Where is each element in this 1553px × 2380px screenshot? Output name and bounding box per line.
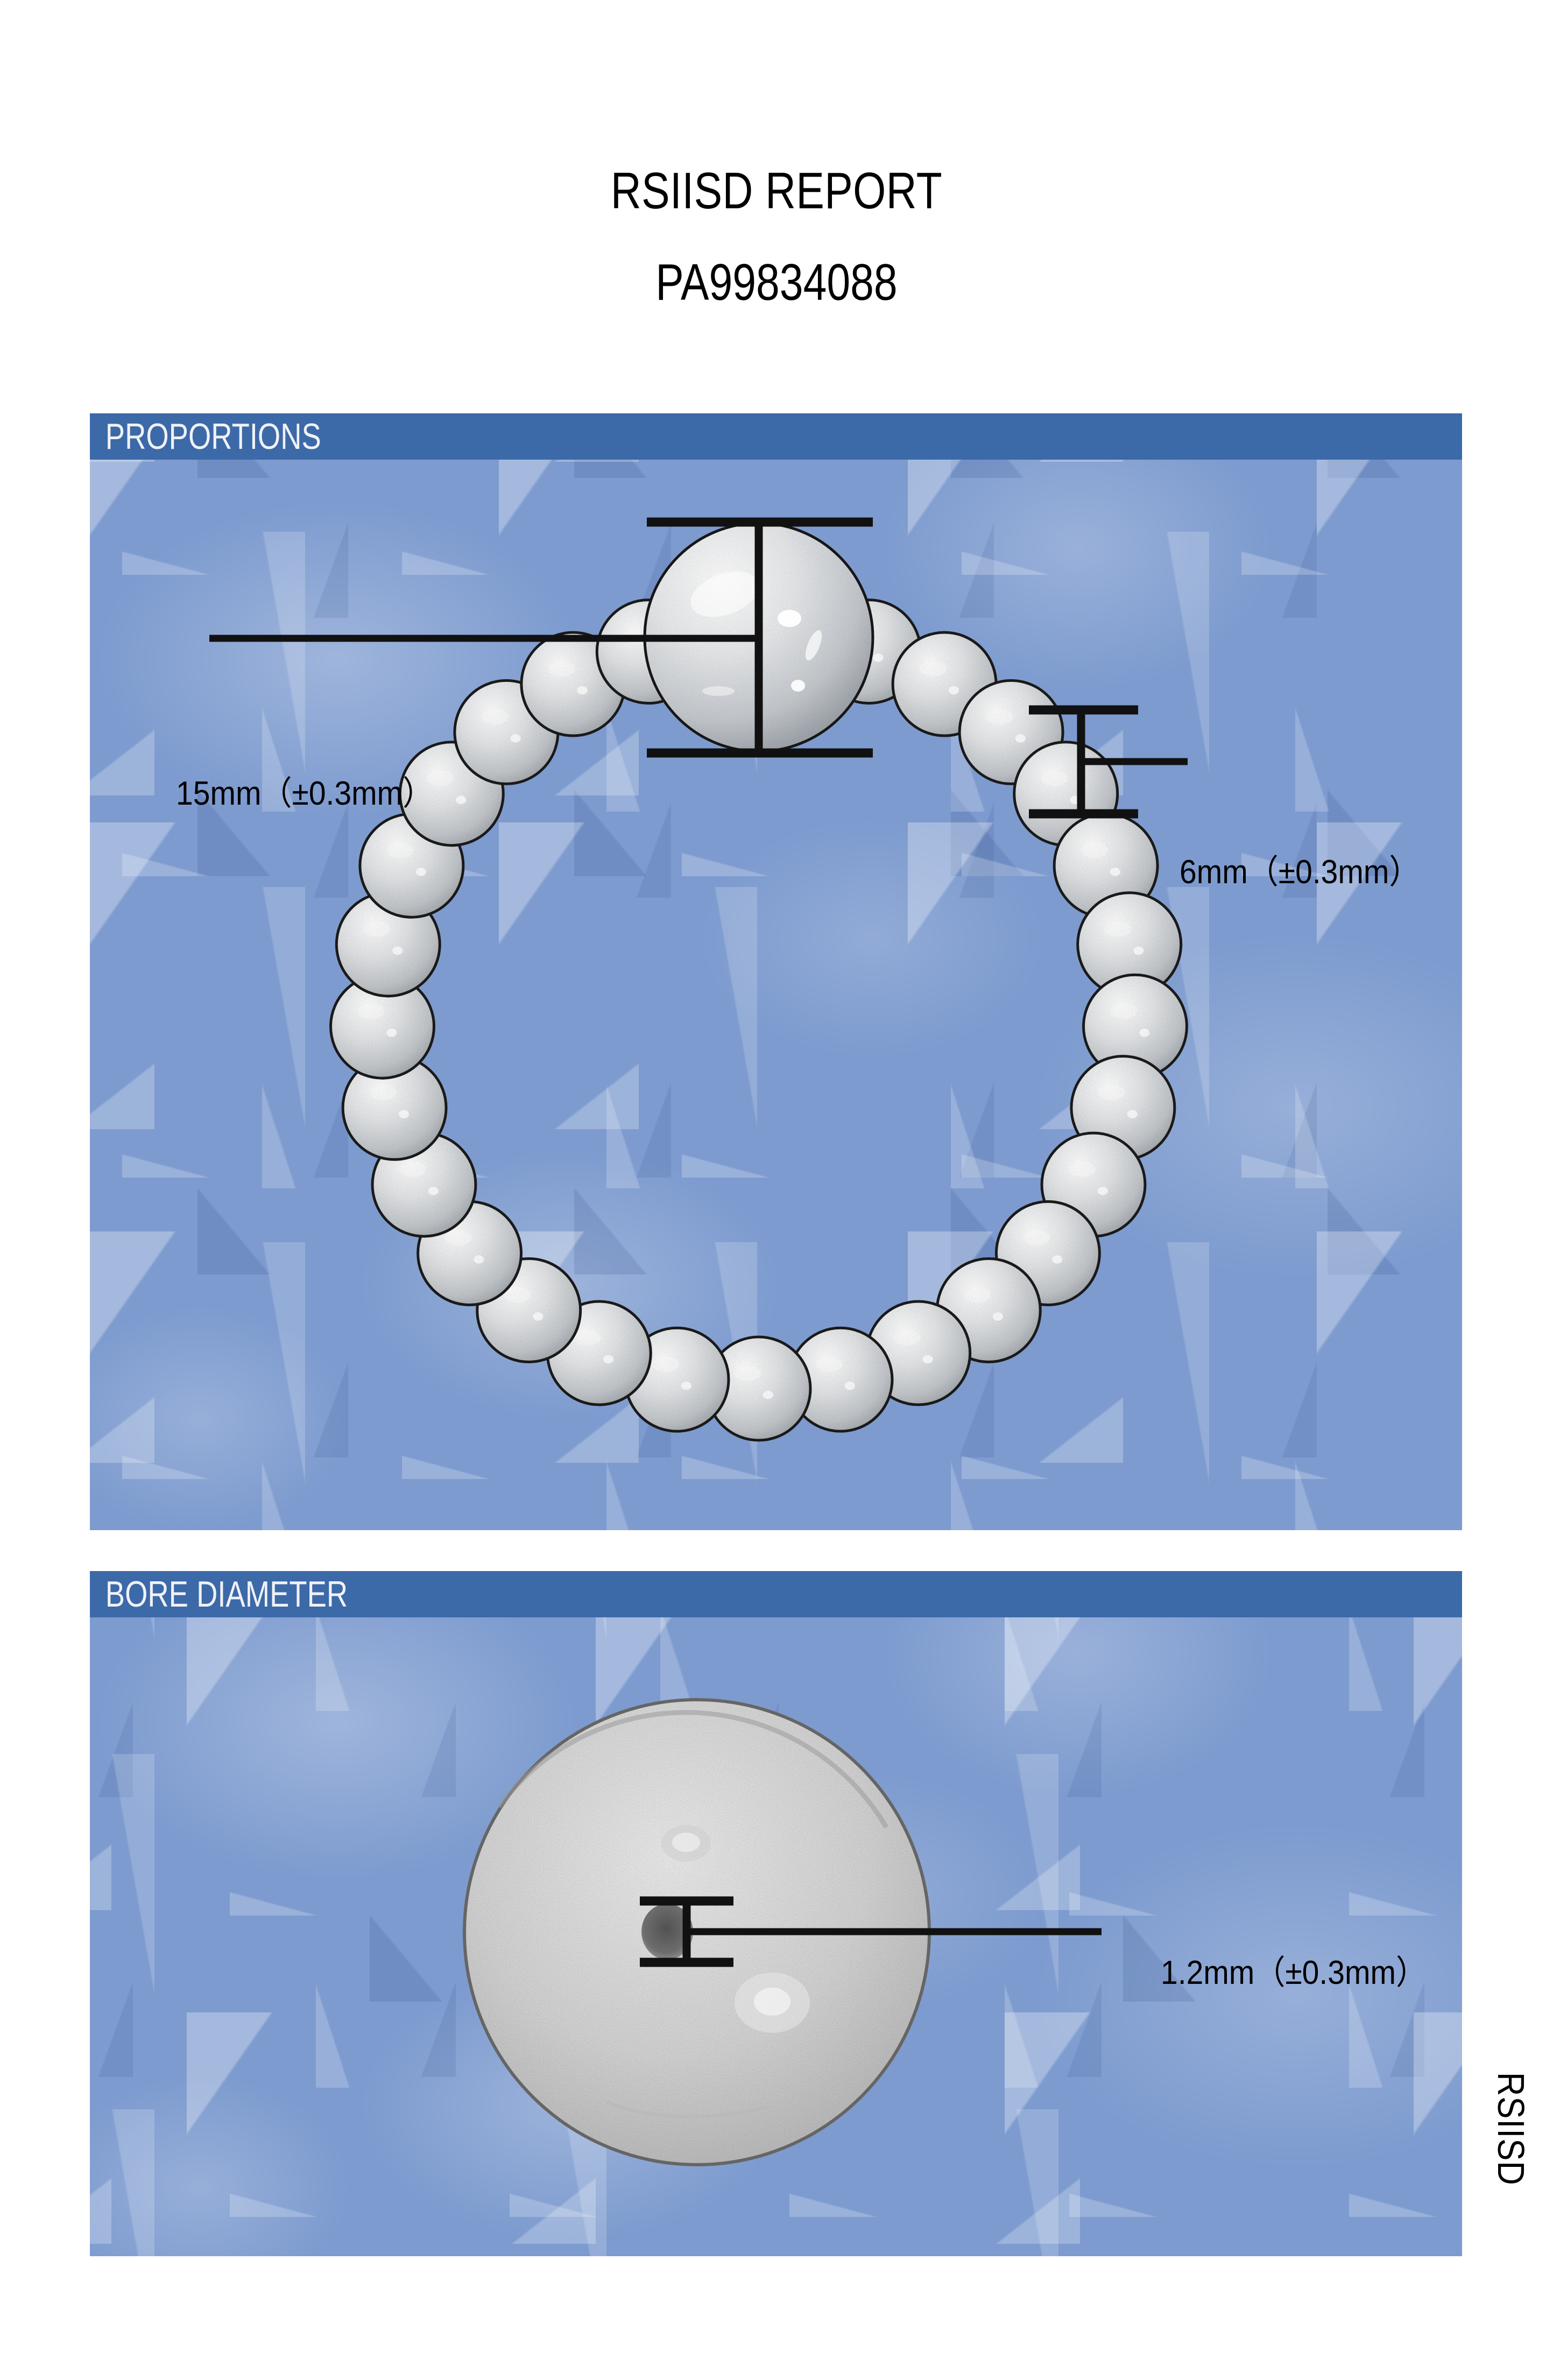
proportions-panel: PROPORTIONS [90, 413, 1462, 1530]
bead-inclusion [1052, 1255, 1062, 1263]
bead-inclusion [1127, 1110, 1138, 1118]
bead-highlight [399, 1161, 426, 1177]
bore-diameter-header: BORE DIAMETER [90, 1571, 1462, 1617]
brand-watermark: RSIISD [1490, 2072, 1533, 2186]
bead-highlight [574, 1330, 601, 1346]
bead-highlight [363, 921, 390, 937]
bead-highlight [370, 1085, 397, 1100]
bead-inclusion [428, 1187, 439, 1195]
bore-diameter-panel: BORE DIAMETER [90, 1571, 1462, 2256]
bead-inclusion [511, 734, 521, 742]
bracelet-diagram [90, 460, 1462, 1530]
bead-inclusion [456, 796, 466, 804]
bead-highlight [444, 1230, 471, 1245]
bead-inclusion [416, 868, 426, 876]
bore-disc-diagram [90, 1617, 1462, 2256]
proportions-header-label: PROPORTIONS [90, 418, 321, 455]
bead-inclusion [1098, 1187, 1108, 1195]
bore-diameter-header-label: BORE DIAMETER [90, 1576, 348, 1613]
proportions-header: PROPORTIONS [90, 413, 1462, 460]
bead-inclusion [1110, 868, 1120, 876]
bead-inclusion [386, 1029, 397, 1037]
bead-highlight [1041, 771, 1068, 786]
bead-inclusion [845, 1382, 855, 1390]
bead-highlight [357, 1003, 384, 1019]
dimension-label-15mm: 15mm（±0.3mm） [176, 777, 433, 811]
bead-inclusion [1015, 734, 1026, 742]
dimension-label-1-2mm: 1.2mm（±0.3mm） [1161, 1956, 1427, 1990]
report-number: PA99834088 [140, 221, 1414, 312]
bead-highlight [920, 661, 947, 677]
bead-inclusion [1139, 1029, 1149, 1037]
bead-highlight [652, 1356, 679, 1372]
bead-inclusion [474, 1255, 484, 1263]
bead-highlight [387, 842, 414, 858]
bead-inclusion [922, 1355, 933, 1363]
bead-highlight [548, 661, 575, 677]
bead-highlight [1110, 1003, 1137, 1019]
bead-highlight [1069, 1161, 1096, 1177]
proportions-body: 15mm（±0.3mm） 6mm（±0.3mm） [90, 460, 1462, 1530]
bead-inclusion [533, 1312, 543, 1320]
bead-highlight [986, 709, 1013, 724]
bead-highlight [894, 1330, 921, 1346]
bead-highlight [482, 709, 509, 724]
bead-highlight [1023, 1230, 1050, 1245]
bead-highlight [816, 1356, 843, 1372]
page-title: RSIISD REPORT [140, 0, 1414, 221]
bead-highlight [1105, 921, 1132, 937]
bead-inclusion [399, 1110, 409, 1118]
bore-diameter-body: 1.2mm（±0.3mm） [90, 1617, 1462, 2256]
bead-inclusion [763, 1391, 773, 1399]
dimension-label-6mm: 6mm（±0.3mm） [1180, 856, 1420, 889]
bead-inclusion [603, 1355, 613, 1363]
bead-highlight [1098, 1085, 1125, 1100]
bead-highlight [1081, 842, 1108, 858]
report-title-block: RSIISD REPORT PA99834088 [0, 0, 1553, 312]
bead-inclusion [392, 947, 403, 955]
bead-highlight [964, 1287, 991, 1302]
bead-inclusion [681, 1382, 691, 1390]
bead-inclusion [1133, 947, 1143, 955]
bead-inclusion [577, 686, 588, 694]
bead-inclusion [993, 1312, 1003, 1320]
bead-highlight [734, 1365, 761, 1381]
bead-inclusion [873, 653, 883, 661]
bead-inclusion [949, 686, 959, 694]
